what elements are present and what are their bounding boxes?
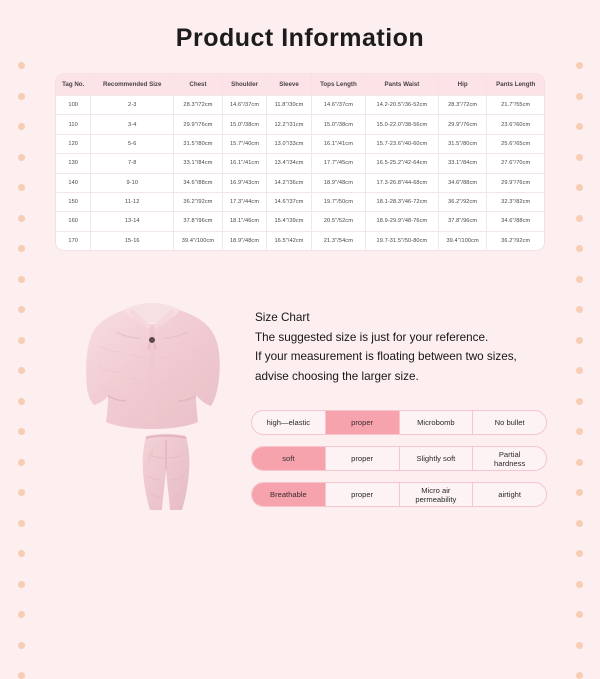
table-cell: 36.2"/92cm bbox=[487, 231, 544, 250]
table-row: 1307-833.1"/84cm16.1"/41cm13.4"/34cm17.7… bbox=[56, 154, 544, 173]
decorative-dot bbox=[18, 428, 25, 435]
table-cell: 14.6"/37cm bbox=[222, 96, 266, 115]
table-cell: 14.6"/37cm bbox=[267, 192, 311, 211]
table-cell: 130 bbox=[56, 154, 91, 173]
decorative-dot bbox=[576, 672, 583, 679]
decorative-dot bbox=[576, 62, 583, 69]
table-cell: 18.9"/48cm bbox=[311, 173, 365, 192]
table-column-header: Pants Length bbox=[487, 74, 544, 96]
size-chart-line-3: advise choosing the larger size. bbox=[255, 367, 555, 387]
attribute-pill-rows: high—elasticproperMicrobombNo bulletsoft… bbox=[251, 410, 547, 507]
attribute-option[interactable]: No bullet bbox=[473, 411, 546, 434]
table-cell: 18.9"/48cm bbox=[222, 231, 266, 250]
table-cell: 13.4"/34cm bbox=[267, 154, 311, 173]
table-column-header: Pants Waist bbox=[366, 74, 439, 96]
decorative-dot-column-left bbox=[4, 0, 38, 600]
table-cell: 14.2"/36cm bbox=[267, 173, 311, 192]
decorative-dot bbox=[576, 215, 583, 222]
decorative-dot bbox=[18, 123, 25, 130]
decorative-dot bbox=[576, 581, 583, 588]
decorative-dot bbox=[18, 520, 25, 527]
decorative-dot bbox=[18, 184, 25, 191]
table-cell: 160 bbox=[56, 212, 91, 231]
table-cell: 5-6 bbox=[91, 134, 174, 153]
pants-graphic bbox=[143, 434, 190, 510]
decorative-dot bbox=[576, 337, 583, 344]
table-cell: 15.0-22.0"/38-56cm bbox=[366, 115, 439, 134]
table-cell: 16.5"/42cm bbox=[267, 231, 311, 250]
attribute-option[interactable]: Microbomb bbox=[400, 411, 474, 434]
decorative-dot bbox=[18, 306, 25, 313]
decorative-dot bbox=[576, 520, 583, 527]
decorative-dot bbox=[18, 215, 25, 222]
table-cell: 28.3"/72cm bbox=[174, 96, 223, 115]
page-title: Product Information bbox=[0, 24, 600, 53]
table-cell: 32.3"/82cm bbox=[487, 192, 544, 211]
attribute-option[interactable]: Partial hardness bbox=[473, 447, 546, 470]
attribute-option-selected[interactable]: Breathable bbox=[252, 483, 326, 506]
table-cell: 14.6"/37cm bbox=[311, 96, 365, 115]
table-cell: 120 bbox=[56, 134, 91, 153]
table-cell: 170 bbox=[56, 231, 91, 250]
table-row: 1409-1034.6"/88cm16.9"/43cm14.2"/36cm18.… bbox=[56, 173, 544, 192]
table-cell: 27.6"/70cm bbox=[487, 154, 544, 173]
table-cell: 11-12 bbox=[91, 192, 174, 211]
attribute-option[interactable]: high—elastic bbox=[252, 411, 326, 434]
decorative-dot bbox=[576, 642, 583, 649]
table-cell: 34.6"/88cm bbox=[438, 173, 487, 192]
table-row: 1205-631.5"/80cm15.7"/40cm13.0"/33cm16.1… bbox=[56, 134, 544, 153]
table-body: 1002-328.3"/72cm14.6"/37cm11.8"/30cm14.6… bbox=[56, 96, 544, 251]
table-cell: 29.9"/76cm bbox=[487, 173, 544, 192]
attribute-option[interactable]: Micro air permeability bbox=[400, 483, 474, 506]
attribute-row-breathability: BreathableproperMicro air permeabilityai… bbox=[251, 482, 547, 507]
table-cell: 140 bbox=[56, 173, 91, 192]
table-column-header: Chest bbox=[174, 74, 223, 96]
decorative-dot bbox=[576, 184, 583, 191]
attribute-option[interactable]: proper bbox=[326, 483, 400, 506]
table-cell: 13.0"/33cm bbox=[267, 134, 311, 153]
attribute-option[interactable]: airtight bbox=[473, 483, 546, 506]
table-cell: 18.1-28.3"/46-72cm bbox=[366, 192, 439, 211]
decorative-dot bbox=[576, 123, 583, 130]
table-cell: 150 bbox=[56, 192, 91, 211]
table-cell: 19.7-31.5"/50-80cm bbox=[366, 231, 439, 250]
decorative-dot bbox=[18, 367, 25, 374]
table-cell: 39.4"/100cm bbox=[438, 231, 487, 250]
decorative-dot bbox=[18, 581, 25, 588]
table-cell: 2-3 bbox=[91, 96, 174, 115]
table-cell: 18.9-29.9"/48-76cm bbox=[366, 212, 439, 231]
decorative-dot bbox=[576, 611, 583, 618]
table-cell: 7-8 bbox=[91, 154, 174, 173]
table-cell: 9-10 bbox=[91, 173, 174, 192]
table-cell: 25.6"/65cm bbox=[487, 134, 544, 153]
table-column-header: Tops Length bbox=[311, 74, 365, 96]
size-table: Tag No.Recommended SizeChestShoulderSlee… bbox=[56, 74, 544, 250]
table-column-header: Hip bbox=[438, 74, 487, 96]
table-cell: 37.8"/96cm bbox=[174, 212, 223, 231]
decorative-dot bbox=[18, 672, 25, 679]
table-cell: 19.7"/50cm bbox=[311, 192, 365, 211]
table-cell: 12.2"/31cm bbox=[267, 115, 311, 134]
table-cell: 16.9"/43cm bbox=[222, 173, 266, 192]
table-cell: 36.2"/92cm bbox=[174, 192, 223, 211]
table-row: 17015-1639.4"/100cm18.9"/48cm16.5"/42cm2… bbox=[56, 231, 544, 250]
decorative-dot bbox=[18, 489, 25, 496]
decorative-dot bbox=[18, 337, 25, 344]
table-cell: 33.1"/84cm bbox=[438, 154, 487, 173]
table-cell: 33.1"/84cm bbox=[174, 154, 223, 173]
table-cell: 37.8"/96cm bbox=[438, 212, 487, 231]
table-cell: 31.5"/80cm bbox=[174, 134, 223, 153]
table-header-row: Tag No.Recommended SizeChestShoulderSlee… bbox=[56, 74, 544, 96]
decorative-dot bbox=[576, 398, 583, 405]
decorative-dot-column-right bbox=[562, 0, 596, 600]
decorative-dot bbox=[576, 489, 583, 496]
size-chart-line-1: The suggested size is just for your refe… bbox=[255, 328, 555, 348]
decorative-dot bbox=[18, 459, 25, 466]
table-cell: 15-16 bbox=[91, 231, 174, 250]
table-row: 1002-328.3"/72cm14.6"/37cm11.8"/30cm14.6… bbox=[56, 96, 544, 115]
table-cell: 11.8"/30cm bbox=[267, 96, 311, 115]
table-cell: 39.4"/100cm bbox=[174, 231, 223, 250]
table-column-header: Tag No. bbox=[56, 74, 91, 96]
table-cell: 15.0"/38cm bbox=[311, 115, 365, 134]
attribute-option[interactable]: proper bbox=[326, 447, 400, 470]
decorative-dot bbox=[576, 276, 583, 283]
table-row: 15011-1236.2"/92cm17.3"/44cm14.6"/37cm19… bbox=[56, 192, 544, 211]
table-cell: 34.6"/88cm bbox=[174, 173, 223, 192]
decorative-dot bbox=[576, 550, 583, 557]
decorative-dot bbox=[18, 550, 25, 557]
table-column-header: Sleeve bbox=[267, 74, 311, 96]
table-cell: 17.7"/45cm bbox=[311, 154, 365, 173]
table-cell: 16.1"/41cm bbox=[222, 154, 266, 173]
size-chart-line-2: If your measurement is floating between … bbox=[255, 347, 555, 367]
table-cell: 29.9"/76cm bbox=[174, 115, 223, 134]
decorative-dot bbox=[576, 245, 583, 252]
table-cell: 110 bbox=[56, 115, 91, 134]
size-chart-note: Size Chart The suggested size is just fo… bbox=[255, 308, 555, 386]
table-cell: 3-4 bbox=[91, 115, 174, 134]
table-cell: 100 bbox=[56, 96, 91, 115]
decorative-dot bbox=[18, 398, 25, 405]
decorative-dot bbox=[576, 459, 583, 466]
table-column-header: Recommended Size bbox=[91, 74, 174, 96]
table-column-header: Shoulder bbox=[222, 74, 266, 96]
jacket-graphic bbox=[86, 303, 220, 429]
decorative-dot bbox=[576, 154, 583, 161]
attribute-row-softness: softproperSlightly softPartial hardness bbox=[251, 446, 547, 471]
table-cell: 15.4"/39cm bbox=[267, 212, 311, 231]
decorative-dot bbox=[576, 93, 583, 100]
decorative-dot bbox=[576, 367, 583, 374]
table-cell: 34.6"/88cm bbox=[487, 212, 544, 231]
table-cell: 21.7"/55cm bbox=[487, 96, 544, 115]
table-cell: 17.3-26.8"/44-68cm bbox=[366, 173, 439, 192]
decorative-dot bbox=[18, 62, 25, 69]
table-cell: 17.3"/44cm bbox=[222, 192, 266, 211]
table-cell: 20.5"/52cm bbox=[311, 212, 365, 231]
attribute-option[interactable]: Slightly soft bbox=[400, 447, 474, 470]
decorative-dot bbox=[18, 245, 25, 252]
attribute-option-selected[interactable]: proper bbox=[326, 411, 400, 434]
table-cell: 16.5-25.2"/42-64cm bbox=[366, 154, 439, 173]
size-table-container: Tag No.Recommended SizeChestShoulderSlee… bbox=[55, 73, 545, 251]
table-cell: 18.1"/46cm bbox=[222, 212, 266, 231]
decorative-dot bbox=[18, 611, 25, 618]
attribute-row-elasticity: high—elasticproperMicrobombNo bullet bbox=[251, 410, 547, 435]
table-row: 16013-1437.8"/96cm18.1"/46cm15.4"/39cm20… bbox=[56, 212, 544, 231]
table-cell: 21.3"/54cm bbox=[311, 231, 365, 250]
table-cell: 14.2-20.5"/36-52cm bbox=[366, 96, 439, 115]
table-cell: 13-14 bbox=[91, 212, 174, 231]
decorative-dot bbox=[576, 306, 583, 313]
table-cell: 28.3"/72cm bbox=[438, 96, 487, 115]
product-image bbox=[72, 288, 237, 513]
size-chart-heading: Size Chart bbox=[255, 308, 555, 328]
table-cell: 15.7-23.6"/40-60cm bbox=[366, 134, 439, 153]
table-cell: 36.2"/92cm bbox=[438, 192, 487, 211]
table-cell: 23.6"/60cm bbox=[487, 115, 544, 134]
decorative-dot bbox=[18, 276, 25, 283]
table-cell: 15.0"/38cm bbox=[222, 115, 266, 134]
decorative-dot bbox=[18, 642, 25, 649]
decorative-dot bbox=[18, 154, 25, 161]
table-cell: 29.9"/76cm bbox=[438, 115, 487, 134]
table-cell: 16.1"/41cm bbox=[311, 134, 365, 153]
table-cell: 31.5"/80cm bbox=[438, 134, 487, 153]
table-cell: 15.7"/40cm bbox=[222, 134, 266, 153]
attribute-option-selected[interactable]: soft bbox=[252, 447, 326, 470]
table-row: 1103-429.9"/76cm15.0"/38cm12.2"/31cm15.0… bbox=[56, 115, 544, 134]
decorative-dot bbox=[576, 428, 583, 435]
decorative-dot bbox=[18, 93, 25, 100]
